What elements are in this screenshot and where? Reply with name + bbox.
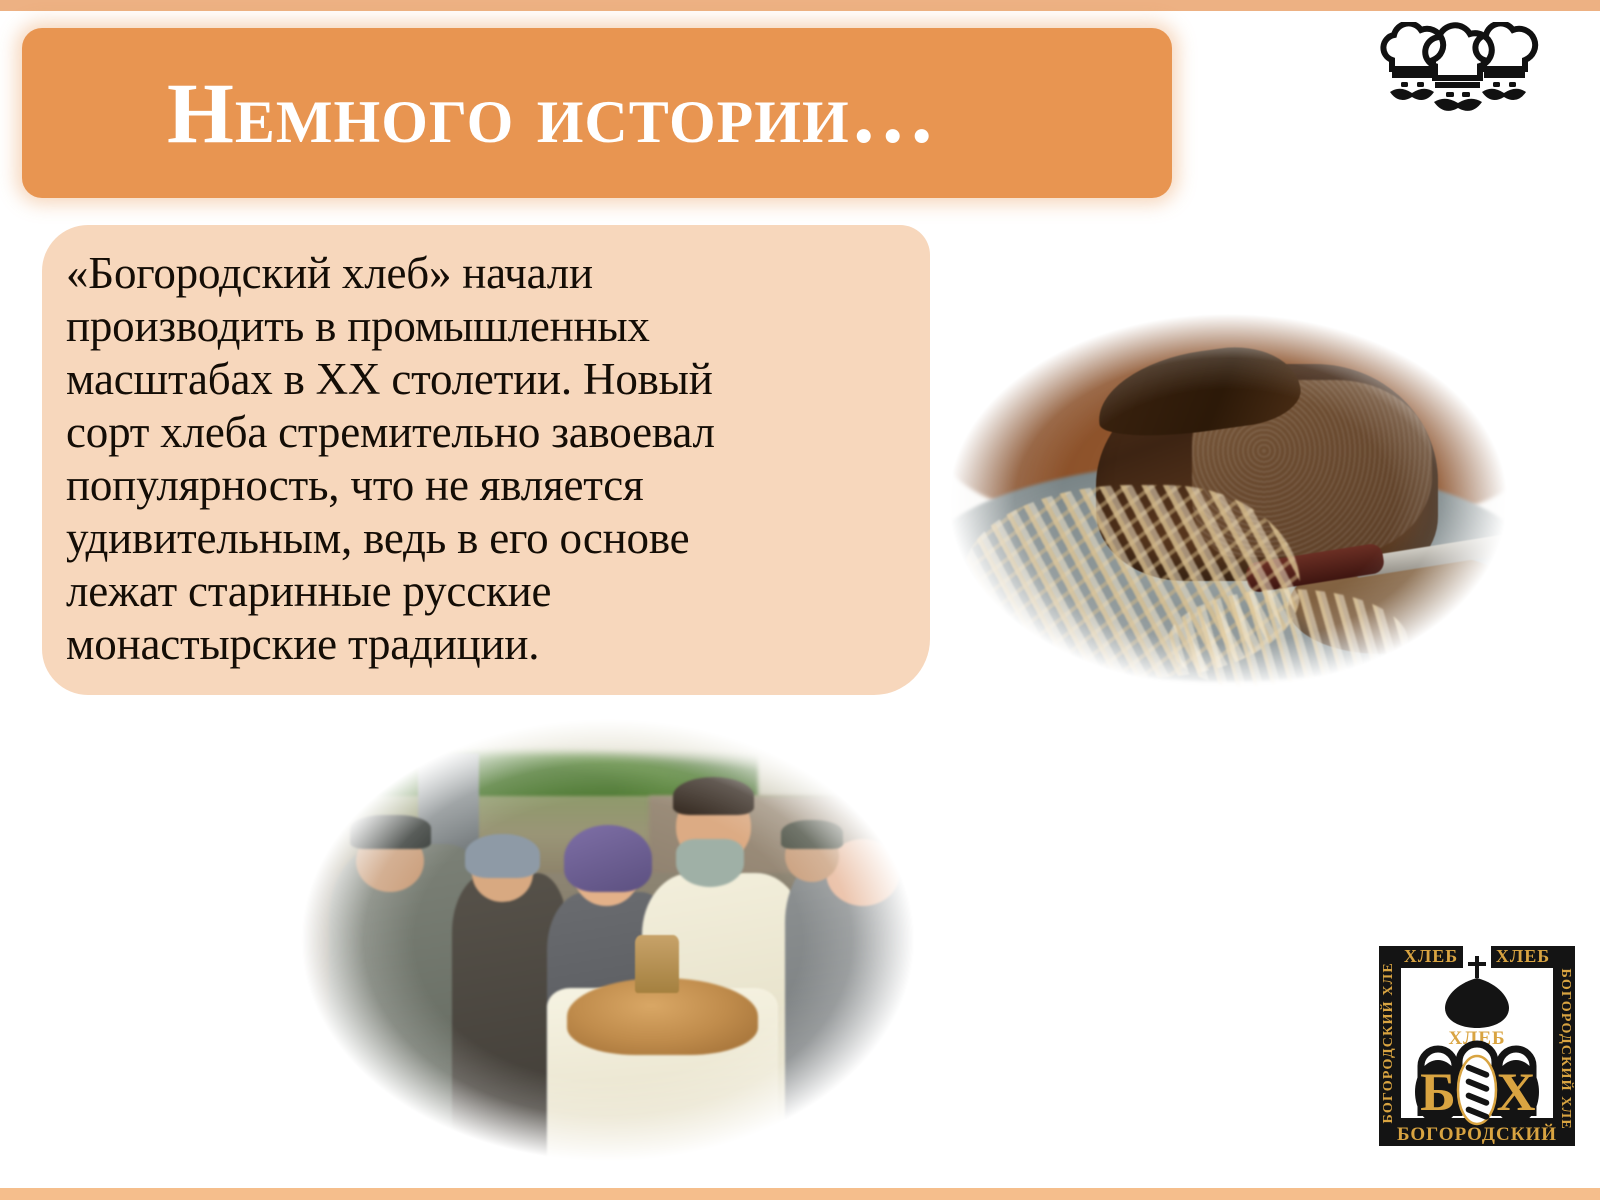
bogorodskiy-hleb-logo: ХЛЕБ ХЛЕБ БОГОРОДСКИЙ БОГОРОДСКИЙ ХЛЕБ Б… (1371, 940, 1583, 1152)
body-line: масштабах в XX столетии. Новый (66, 353, 906, 406)
logo-monogram-left: Б (1420, 1062, 1456, 1122)
wheat-ears-secondary (1168, 589, 1408, 694)
bread-photo (928, 300, 1528, 702)
bottom-accent-bar (0, 1188, 1600, 1200)
title-plaque: Немного истории… (22, 28, 1172, 198)
painting-figure-right (785, 858, 921, 1180)
logo-bottom-word: БОГОРОДСКИЙ (1397, 1123, 1557, 1145)
painting-headscarf-woman-center (564, 825, 652, 892)
painting-cap-back-right (781, 820, 842, 849)
painting-headscarf-woman-second (465, 834, 540, 877)
top-accent-bar (0, 0, 1600, 11)
painting-bread-and-salt (268, 700, 948, 1180)
body-line: популярность, что не является (66, 459, 906, 512)
body-line: сорт хлеба стремительно завоевал (66, 406, 906, 459)
slide-canvas: Немного истории… (0, 0, 1600, 1200)
body-text-card: «Богородский хлеб» начали производить в … (42, 225, 930, 695)
body-paragraph: «Богородский хлеб» начали производить в … (66, 247, 906, 671)
body-line: производить в промышленных (66, 300, 906, 353)
body-line: удивительным, ведь в его основе (66, 512, 906, 565)
three-chef-hats-icon (1372, 22, 1544, 114)
logo-top-left-word: ХЛЕБ (1404, 946, 1458, 966)
painting-cap-man-left (350, 815, 432, 849)
body-line: лежат старинные русские (66, 565, 906, 618)
logo-left-side-word: БОГОРОДСКИЙ ХЛЕБ (1371, 940, 1396, 1123)
painting-hair-elder-man (673, 777, 755, 815)
painting-salt-shaker (635, 935, 679, 993)
page-title: Немного истории… (167, 70, 937, 156)
logo-monogram-right: Х (1497, 1062, 1536, 1122)
body-line: «Богородский хлеб» начали (66, 247, 906, 300)
body-line: монастырские традиции. (66, 618, 906, 671)
painting-beard-elder-man (676, 839, 744, 887)
logo-top-right-word: ХЛЕБ (1496, 946, 1550, 966)
